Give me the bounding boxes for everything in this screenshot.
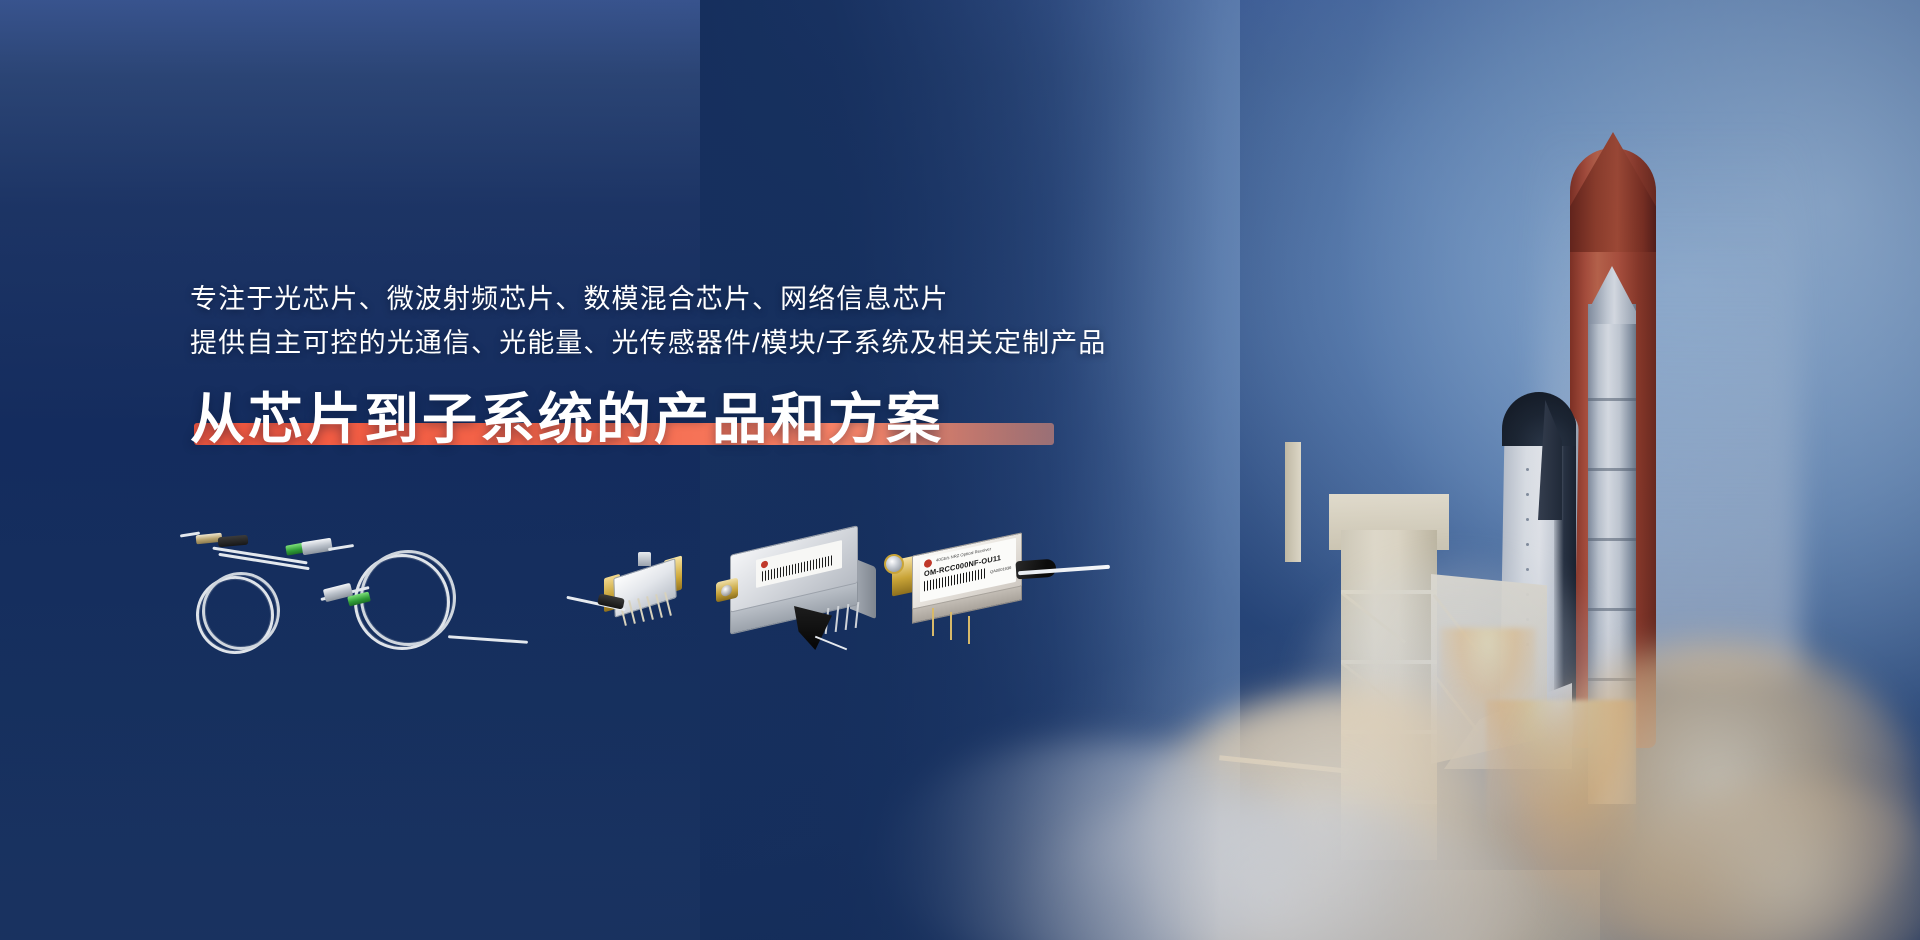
product-showcase-row: 40Gb/s NRZ Optical Receiver OM-RCC000NF-…	[150, 520, 930, 680]
black-boot	[218, 535, 249, 548]
receiver-pin	[932, 608, 934, 636]
optical-receiver-module: 40Gb/s NRZ Optical Receiver OM-RCC000NF-…	[890, 524, 1090, 654]
page-title: 从芯片到子系统的产品和方案	[190, 389, 944, 451]
package-cap	[638, 552, 651, 566]
tagline-line-2: 提供自主可控的光通信、光能量、光传感器件/模块/子系统及相关定制产品	[190, 322, 1190, 366]
butterfly-package-laser-diode	[598, 550, 708, 646]
hero-banner: 专注于光芯片、微波射频芯片、数模混合芯片、网络信息芯片 提供自主可控的光通信、光…	[0, 0, 1920, 940]
brand-logo-dot	[761, 560, 768, 569]
tagline-line-1: 专注于光芯片、微波射频芯片、数模混合芯片、网络信息芯片	[190, 278, 1190, 322]
fiber-tail	[448, 635, 528, 644]
fiber-optic-pigtail-assembly-2	[318, 530, 548, 670]
receiver-pin	[950, 612, 952, 640]
rf-metal-module	[710, 534, 900, 654]
headline-wrapper: 从芯片到子系统的产品和方案	[190, 389, 944, 451]
label-serial: QA0001936	[990, 565, 1011, 575]
vignette-overlay	[0, 0, 1920, 940]
hero-copy-block: 专注于光芯片、微波射频芯片、数模混合芯片、网络信息芯片 提供自主可控的光通信、光…	[190, 278, 1190, 451]
receiver-pin	[968, 616, 970, 644]
fiber-lead	[815, 636, 847, 651]
rf-sma-connector	[884, 554, 904, 574]
